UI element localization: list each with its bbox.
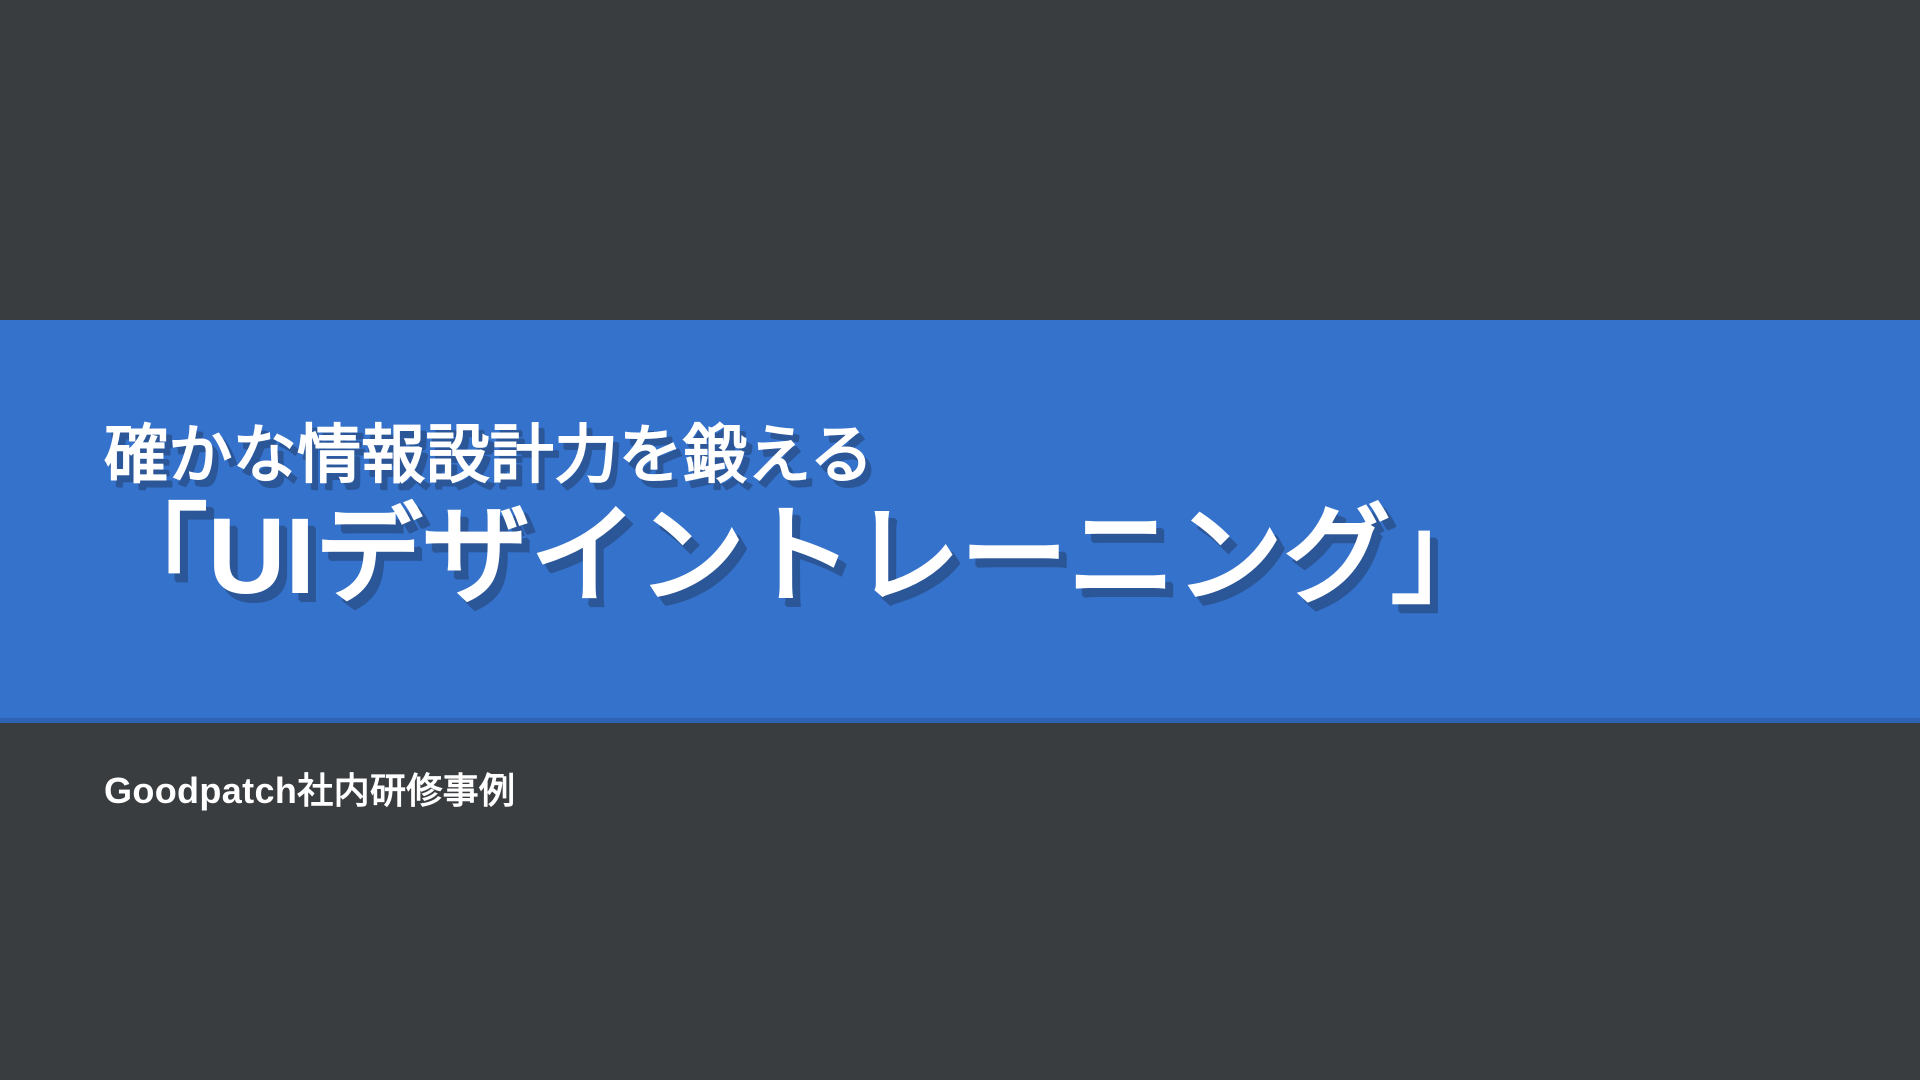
title-lead-line: 確かな情報設計力を鍛える: [104, 422, 1860, 489]
title-block: 確かな情報設計力を鍛える 「UIデザイントレーニング」: [100, 320, 1860, 722]
presentation-slide: 確かな情報設計力を鍛える 「UIデザイントレーニング」 Goodpatch社内研…: [0, 0, 1920, 1080]
title-main-line: 「UIデザイントレーニング」: [100, 499, 1860, 613]
slide-caption: Goodpatch社内研修事例: [104, 762, 515, 814]
